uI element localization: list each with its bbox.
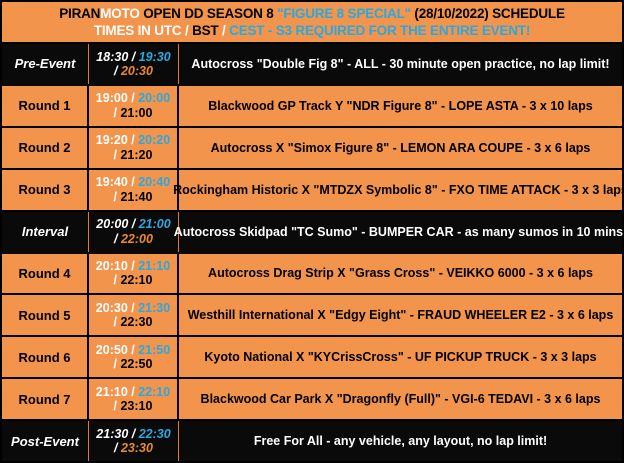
row-time-line-2: / 21:20	[114, 148, 153, 162]
schedule-row: Round 620:50 / 21:50/ 22:50Kyoto Nationa…	[2, 337, 622, 379]
row-description-cell: Blackwood GP Track Y "NDR Figure 8" - LO…	[179, 86, 622, 126]
row-description: Blackwood GP Track Y "NDR Figure 8" - LO…	[208, 99, 592, 113]
row-time-utc: 19:40	[96, 175, 128, 189]
row-description: Kyoto National X "KYCrissCross" - UF PIC…	[204, 350, 596, 364]
row-time-line-1: 18:30 / 19:30	[96, 50, 170, 64]
schedule-table: PIRANMOTO OPEN DD SEASON 8 "FIGURE 8 SPE…	[0, 0, 624, 463]
schedule-row: Post-Event21:30 / 22:30/ 23:30Free For A…	[2, 421, 622, 461]
header-line-1-segment-0: PIRAN	[59, 6, 100, 21]
row-time-line-2: / 20:30	[114, 64, 153, 78]
row-label: Round 1	[19, 98, 71, 113]
row-label: Interval	[22, 224, 68, 239]
row-time-separator-1: /	[128, 217, 138, 231]
schedule-row: Round 721:10 / 22:10/ 23:10Blackwood Car…	[2, 379, 622, 421]
row-label: Round 2	[19, 140, 71, 155]
row-time-separator-1: /	[128, 91, 138, 105]
row-time-line-2: / 22:30	[114, 315, 153, 329]
row-description-cell: Blackwood Car Park X "Dragonfly (Full)" …	[179, 379, 622, 419]
row-time-separator-1: /	[128, 133, 138, 147]
row-time-cest: 21:20	[120, 148, 152, 162]
row-time-cell: 18:30 / 19:30/ 20:30	[89, 44, 179, 84]
row-label-cell: Round 5	[2, 295, 89, 335]
row-description-cell: Kyoto National X "KYCrissCross" - UF PIC…	[179, 337, 622, 377]
row-time-line-1: 19:20 / 20:20	[96, 133, 170, 147]
row-time-bst: 22:30	[139, 427, 171, 441]
row-description: Westhill International X "Edgy Eight" - …	[188, 308, 614, 322]
row-time-line-2: / 23:10	[114, 399, 153, 413]
header-line-2-segment-2: BST	[192, 23, 218, 38]
row-time-cell: 19:40 / 20:40/ 21:40	[89, 170, 179, 210]
schedule-row: Round 219:20 / 20:20/ 21:20Autocross X "…	[2, 128, 622, 170]
header-line-2-segment-0: TIMES IN UTC	[94, 23, 182, 38]
row-time-line-1: 20:50 / 21:50	[96, 343, 170, 357]
row-time-cell: 21:10 / 22:10/ 23:10	[89, 379, 179, 419]
row-description: Autocross Drag Strip X "Grass Cross" - V…	[208, 266, 593, 280]
row-label-cell: Round 6	[2, 337, 89, 377]
header-line-1-segment-2: OPEN DD SEASON 8	[140, 6, 277, 21]
row-time-line-1: 20:10 / 21:10	[96, 259, 170, 273]
row-time-cell: 21:30 / 22:30/ 23:30	[89, 421, 179, 461]
row-time-bst: 22:10	[138, 385, 170, 399]
row-time-cell: 19:20 / 20:20/ 21:20	[89, 128, 179, 168]
row-description: Rockingham Historic X "MTDZX Symbolic 8"…	[173, 183, 624, 197]
row-time-cell: 20:50 / 21:50/ 22:50	[89, 337, 179, 377]
schedule-row: Round 319:40 / 20:40/ 21:40Rockingham Hi…	[2, 170, 622, 212]
row-time-line-1: 19:00 / 20:00	[96, 91, 170, 105]
row-description-cell: Autocross "Double Fig 8" - ALL - 30 minu…	[179, 44, 622, 84]
header-line-2-segment-3: /	[218, 23, 229, 38]
row-time-separator-2: /	[114, 232, 121, 246]
row-time-bst: 20:20	[138, 133, 170, 147]
row-label-cell: Round 2	[2, 128, 89, 168]
row-time-bst: 21:10	[138, 259, 170, 273]
row-time-line-1: 19:40 / 20:40	[96, 175, 170, 189]
row-time-bst: 21:50	[138, 343, 170, 357]
row-time-utc: 19:00	[96, 91, 128, 105]
row-time-bst: 21:30	[138, 301, 170, 315]
row-time-line-1: 20:00 / 21:00	[96, 217, 170, 231]
header-line-1-segment-4: (28/10/2022) SCHEDULE	[411, 6, 565, 21]
row-label: Pre-Event	[15, 56, 76, 71]
row-time-cest: 23:30	[121, 441, 153, 455]
row-time-cest: 23:10	[120, 399, 152, 413]
header-line-1-segment-3: "FIGURE 8 SPECIAL"	[277, 6, 411, 21]
row-time-separator-1: /	[128, 301, 138, 315]
row-time-line-2: / 23:30	[114, 441, 153, 455]
row-time-cell: 20:30 / 21:30/ 22:30	[89, 295, 179, 335]
row-description: Autocross X "Simox Figure 8" - LEMON ARA…	[211, 141, 591, 155]
row-time-bst: 21:00	[139, 217, 171, 231]
row-description: Autocross Skidpad "TC Sumo" - BUMPER CAR…	[174, 225, 624, 239]
row-time-separator-1: /	[128, 427, 138, 441]
row-time-separator-1: /	[128, 259, 138, 273]
row-description: Free For All - any vehicle, any layout, …	[254, 434, 547, 448]
row-description: Blackwood Car Park X "Dragonfly (Full)" …	[201, 392, 601, 406]
row-time-separator-1: /	[128, 385, 138, 399]
row-time-bst: 19:30	[139, 50, 171, 64]
row-description: Autocross "Double Fig 8" - ALL - 30 minu…	[191, 57, 609, 71]
row-label-cell: Pre-Event	[2, 44, 89, 84]
row-time-line-2: / 22:50	[114, 357, 153, 371]
header-line-1-segment-1: MOTO	[100, 6, 139, 21]
header-line-2-segment-1: /	[181, 23, 192, 38]
row-time-line-1: 21:30 / 22:30	[96, 427, 170, 441]
schedule-rows: Pre-Event18:30 / 19:30/ 20:30Autocross "…	[0, 44, 624, 463]
row-time-utc: 20:10	[96, 259, 128, 273]
schedule-row: Round 119:00 / 20:00/ 21:00Blackwood GP …	[2, 86, 622, 128]
schedule-header: PIRANMOTO OPEN DD SEASON 8 "FIGURE 8 SPE…	[0, 0, 624, 44]
row-label-cell: Round 1	[2, 86, 89, 126]
row-label-cell: Round 3	[2, 170, 89, 210]
header-line-2-segment-4: CEST - S3 REQUIRED FOR THE ENTIRE EVENT!	[229, 23, 530, 38]
row-time-line-2: / 22:00	[114, 232, 153, 246]
schedule-row: Round 520:30 / 21:30/ 22:30Westhill Inte…	[2, 295, 622, 337]
row-label: Round 6	[19, 350, 71, 365]
row-time-cell: 20:00 / 21:00/ 22:00	[89, 212, 179, 252]
row-time-cell: 20:10 / 21:10/ 22:10	[89, 254, 179, 294]
schedule-row: Round 420:10 / 21:10/ 22:10Autocross Dra…	[2, 254, 622, 296]
row-label: Round 5	[19, 308, 71, 323]
row-label-cell: Interval	[2, 212, 89, 252]
row-time-utc: 20:30	[96, 301, 128, 315]
row-description-cell: Rockingham Historic X "MTDZX Symbolic 8"…	[179, 170, 622, 210]
row-label: Round 3	[19, 182, 71, 197]
row-time-cest: 21:40	[120, 190, 152, 204]
row-time-cest: 22:10	[120, 273, 152, 287]
row-label: Post-Event	[11, 434, 79, 449]
row-time-line-1: 21:10 / 22:10	[96, 385, 170, 399]
row-label: Round 4	[19, 266, 71, 281]
header-title-line-2: TIMES IN UTC / BST / CEST - S3 REQUIRED …	[94, 24, 530, 38]
row-label: Round 7	[19, 392, 71, 407]
row-time-cest: 22:50	[120, 357, 152, 371]
row-time-separator-2: /	[114, 64, 121, 78]
row-description-cell: Autocross X "Simox Figure 8" - LEMON ARA…	[179, 128, 622, 168]
schedule-row: Interval20:00 / 21:00/ 22:00Autocross Sk…	[2, 212, 622, 254]
row-description-cell: Autocross Skidpad "TC Sumo" - BUMPER CAR…	[179, 212, 622, 252]
row-time-cell: 19:00 / 20:00/ 21:00	[89, 86, 179, 126]
row-time-bst: 20:00	[138, 91, 170, 105]
row-time-line-2: / 21:40	[114, 190, 153, 204]
row-time-utc: 18:30	[96, 50, 128, 64]
row-time-utc: 19:20	[96, 133, 128, 147]
row-description-cell: Free For All - any vehicle, any layout, …	[179, 421, 622, 461]
header-title-line-1: PIRANMOTO OPEN DD SEASON 8 "FIGURE 8 SPE…	[59, 7, 565, 21]
row-time-cest: 21:00	[120, 106, 152, 120]
row-time-cest: 22:30	[120, 315, 152, 329]
row-time-line-2: / 22:10	[114, 273, 153, 287]
row-label-cell: Round 4	[2, 254, 89, 294]
row-label-cell: Round 7	[2, 379, 89, 419]
row-time-bst: 20:40	[138, 175, 170, 189]
row-time-cest: 22:00	[121, 232, 153, 246]
row-description-cell: Autocross Drag Strip X "Grass Cross" - V…	[179, 254, 622, 294]
row-description-cell: Westhill International X "Edgy Eight" - …	[179, 295, 622, 335]
row-time-line-2: / 21:00	[114, 106, 153, 120]
row-time-line-1: 20:30 / 21:30	[96, 301, 170, 315]
row-time-utc: 20:00	[96, 217, 128, 231]
row-time-separator-1: /	[128, 50, 138, 64]
row-time-cest: 20:30	[121, 64, 153, 78]
row-label-cell: Post-Event	[2, 421, 89, 461]
row-time-utc: 20:50	[96, 343, 128, 357]
schedule-row: Pre-Event18:30 / 19:30/ 20:30Autocross "…	[2, 44, 622, 86]
row-time-separator-2: /	[114, 441, 121, 455]
row-time-utc: 21:10	[96, 385, 128, 399]
row-time-utc: 21:30	[96, 427, 128, 441]
row-time-separator-1: /	[128, 175, 138, 189]
row-time-separator-1: /	[128, 343, 138, 357]
